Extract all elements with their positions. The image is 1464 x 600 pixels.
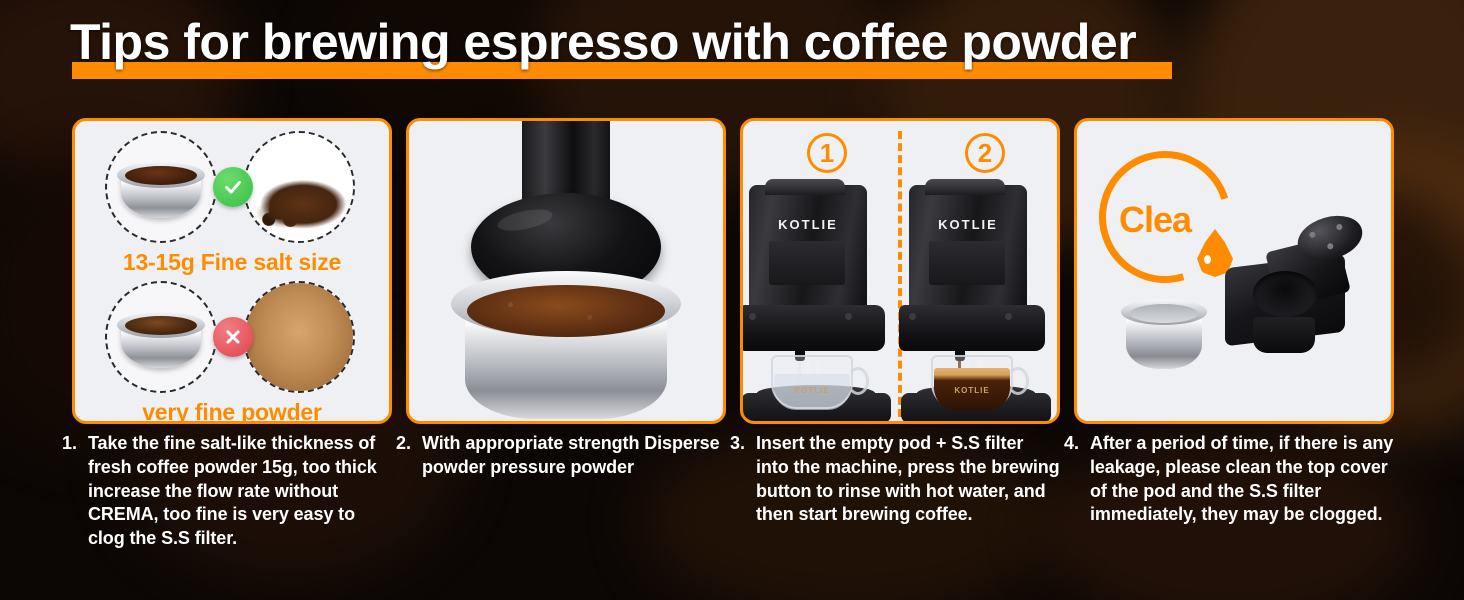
panels-row: 13-15g Fine salt size very fine powder — [0, 118, 1464, 424]
dashed-circle-grounds-good — [243, 131, 355, 243]
caption-number: 2. — [396, 432, 422, 480]
machine-button-left[interactable] — [909, 313, 916, 320]
filter-basket-fine-icon — [117, 158, 205, 220]
caption-number: 3. — [730, 432, 756, 527]
dashed-circle-basket-bad — [105, 281, 217, 393]
machine-control-panel — [929, 241, 1005, 285]
caption-number: 4. — [1064, 432, 1090, 527]
glass-cup-water: KOTLIE — [763, 355, 867, 413]
page-title-block: Tips for brewing espresso with coffee po… — [70, 16, 1136, 69]
coffee-grounds-coarse-image — [245, 133, 353, 241]
caption-3: 3. Insert the empty pod + S.S filter int… — [730, 432, 1060, 527]
tamper-scene-image — [409, 121, 723, 421]
coffee-powder-fine-image — [245, 283, 353, 391]
machine-control-panel — [769, 241, 845, 285]
caption-1: 1. Take the fine salt-like thickness of … — [62, 432, 392, 551]
caption-4: 4. After a period of time, if there is a… — [1064, 432, 1394, 527]
cup-brand-label: KOTLIE — [931, 386, 1013, 395]
machine-button-right[interactable] — [1005, 313, 1012, 320]
caption-2: 2. With appropriate strength Disperse po… — [396, 432, 726, 480]
panel-cleaning: Clea — [1074, 118, 1394, 424]
panel-comparison: 13-15g Fine salt size very fine powder — [72, 118, 392, 424]
caption-number: 1. — [62, 432, 88, 551]
coffee-machine-brewing: KOTLIE KOTLIE — [901, 179, 1051, 423]
caption-text: After a period of time, if there is any … — [1090, 432, 1394, 527]
glass-cup-espresso: KOTLIE — [923, 355, 1027, 413]
pod-holder-assembly — [1219, 217, 1379, 367]
machine-button-right[interactable] — [845, 313, 852, 320]
caption-text: With appropriate strength Disperse powde… — [422, 432, 726, 480]
dashed-circle-grounds-bad — [243, 281, 355, 393]
machine-brand-label: KOTLIE — [749, 217, 867, 232]
coffee-grounds-bed — [467, 285, 665, 337]
coffee-machine-rinse: KOTLIE KOTLIE — [741, 179, 891, 423]
stainless-filter-basket — [1121, 299, 1207, 371]
dashed-circle-basket-good — [105, 131, 217, 243]
caption-text: Take the fine salt-like thickness of fre… — [88, 432, 392, 551]
caption-text: Insert the empty pod + S.S filter into t… — [756, 432, 1060, 527]
comparison-row-bad — [75, 279, 389, 394]
captions-row: 1. Take the fine salt-like thickness of … — [0, 432, 1464, 592]
cross-icon — [213, 317, 253, 357]
label-fine-salt-size: 13-15g Fine salt size — [75, 249, 389, 276]
machine-brand-label: KOTLIE — [909, 217, 1027, 232]
comparison-row-good — [75, 129, 389, 244]
check-icon — [213, 167, 253, 207]
filter-basket-powder-icon — [117, 308, 205, 370]
panel-machines: 1 2 KOTLIE KOTLIE KO — [740, 118, 1060, 424]
label-very-fine-powder: very fine powder — [75, 399, 389, 424]
step-badge-2: 2 — [965, 133, 1005, 173]
machine-button-left[interactable] — [749, 313, 756, 320]
page-title: Tips for brewing espresso with coffee po… — [70, 16, 1136, 69]
filter-basket-large — [451, 271, 681, 421]
step-badge-1: 1 — [807, 133, 847, 173]
cup-brand-label: KOTLIE — [771, 386, 853, 395]
panel-tamping — [406, 118, 726, 424]
